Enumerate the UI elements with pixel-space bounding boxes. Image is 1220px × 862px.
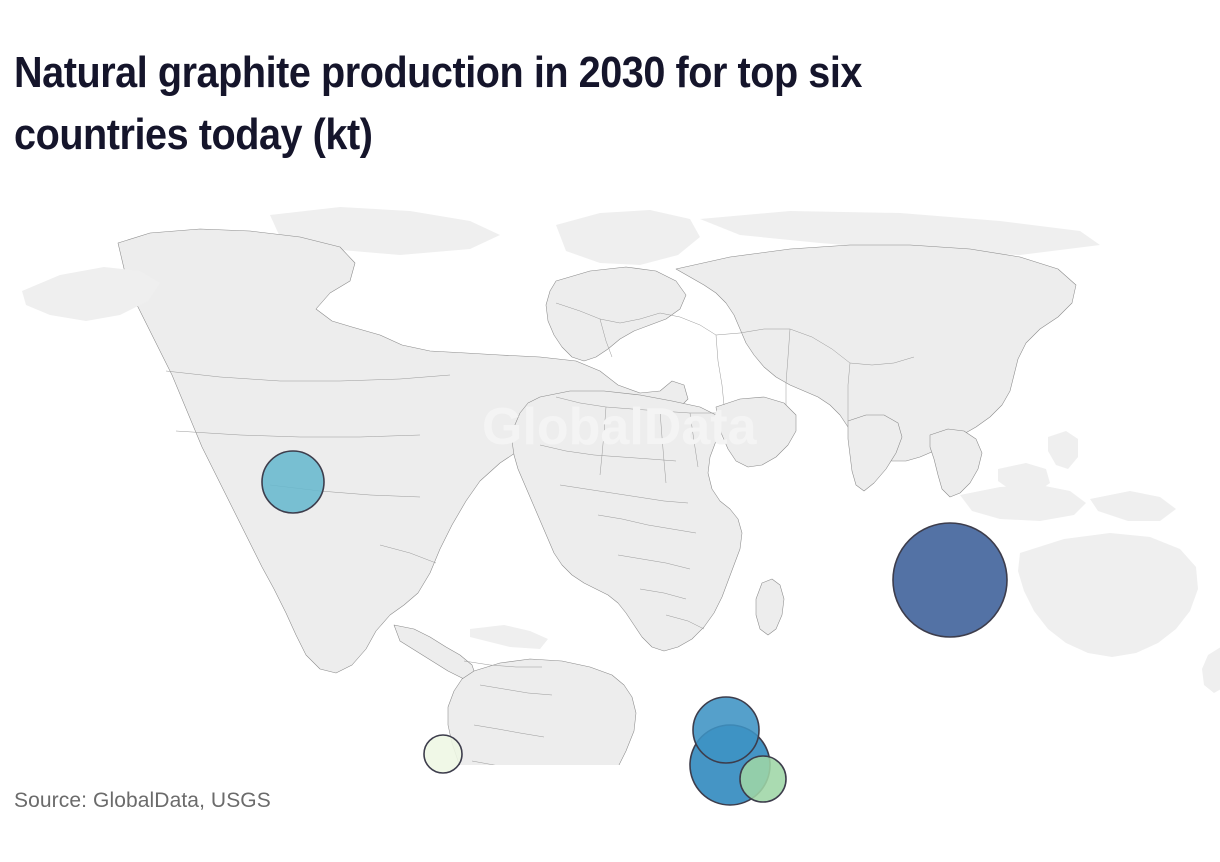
world-map: GlobalData: [0, 185, 1220, 765]
bubble-layer: [0, 185, 1220, 765]
page-title: Natural graphite production in 2030 for …: [14, 42, 1013, 167]
bubble-madagascar[interactable]: [740, 756, 786, 802]
bubble-brazil[interactable]: [424, 735, 462, 773]
bubble-china[interactable]: [893, 523, 1007, 637]
bubble-tanzania[interactable]: [693, 697, 759, 763]
source-note: Source: GlobalData, USGS: [14, 789, 271, 813]
bubble-canada[interactable]: [262, 451, 324, 513]
bubble-map-chart: Natural graphite production in 2030 for …: [0, 0, 1220, 862]
